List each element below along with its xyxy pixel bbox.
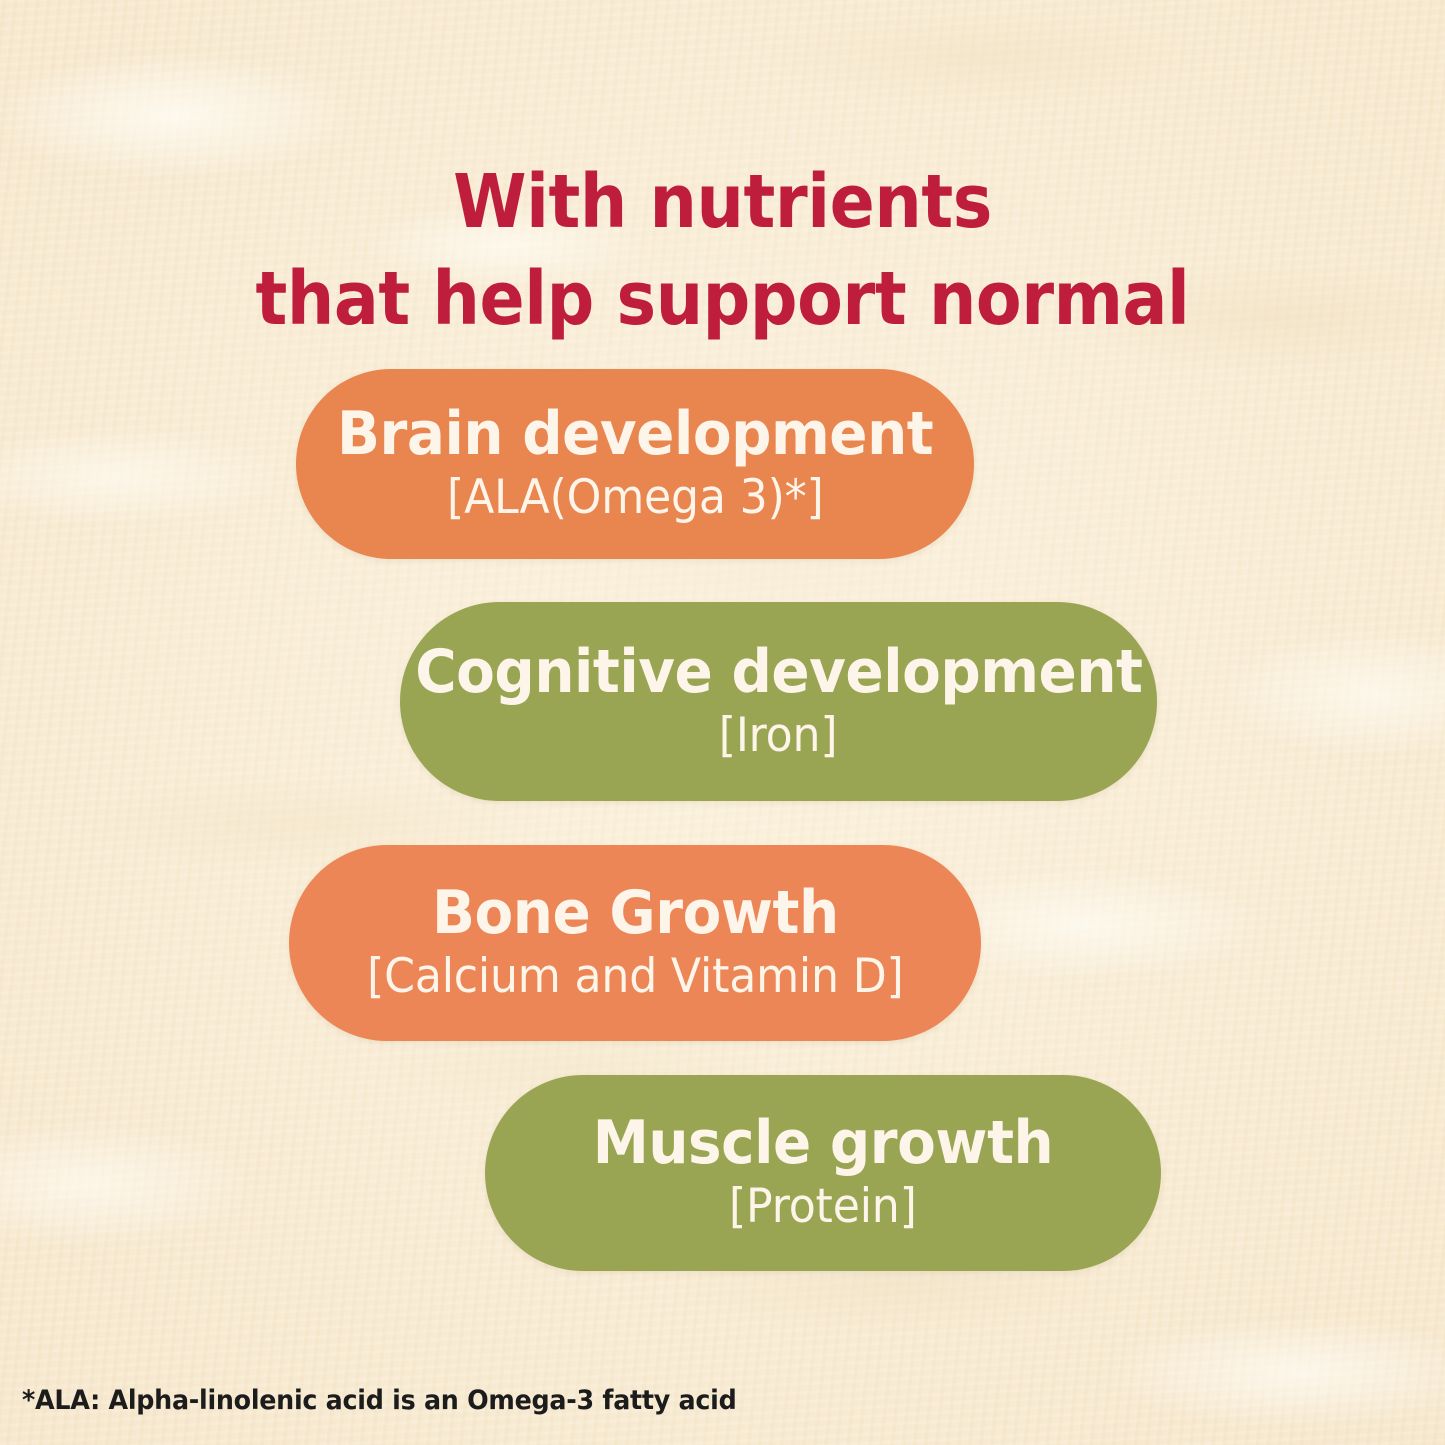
benefit-title-cognitive: Cognitive development	[415, 640, 1142, 704]
benefit-title-muscle: Muscle growth	[593, 1111, 1054, 1175]
benefit-pill-bone: Bone Growth [Calcium and Vitamin D]	[289, 845, 981, 1041]
benefit-title-bone: Bone Growth	[432, 881, 839, 945]
headline-line-2: that help support normal	[72, 251, 1373, 348]
benefit-pill-brain: Brain development [ALA(Omega 3)*]	[296, 369, 974, 559]
benefit-pill-cognitive: Cognitive development [Iron]	[400, 602, 1157, 801]
benefit-nutrient-brain: [ALA(Omega 3)*]	[447, 470, 824, 526]
nutrition-benefits-poster: With nutrients that help support normal …	[0, 0, 1445, 1445]
benefit-pill-muscle: Muscle growth [Protein]	[485, 1075, 1161, 1271]
benefit-nutrient-bone: [Calcium and Vitamin D]	[367, 949, 903, 1005]
benefit-nutrient-cognitive: [Iron]	[719, 708, 838, 764]
page-title: With nutrients that help support normal	[72, 154, 1373, 348]
benefit-nutrient-muscle: [Protein]	[729, 1179, 917, 1235]
benefit-title-brain: Brain development	[337, 402, 933, 466]
poster-content: With nutrients that help support normal …	[0, 0, 1445, 1445]
headline-line-1: With nutrients	[72, 154, 1373, 251]
footnote-ala-definition: *ALA: Alpha-linolenic acid is an Omega-3…	[22, 1383, 736, 1419]
